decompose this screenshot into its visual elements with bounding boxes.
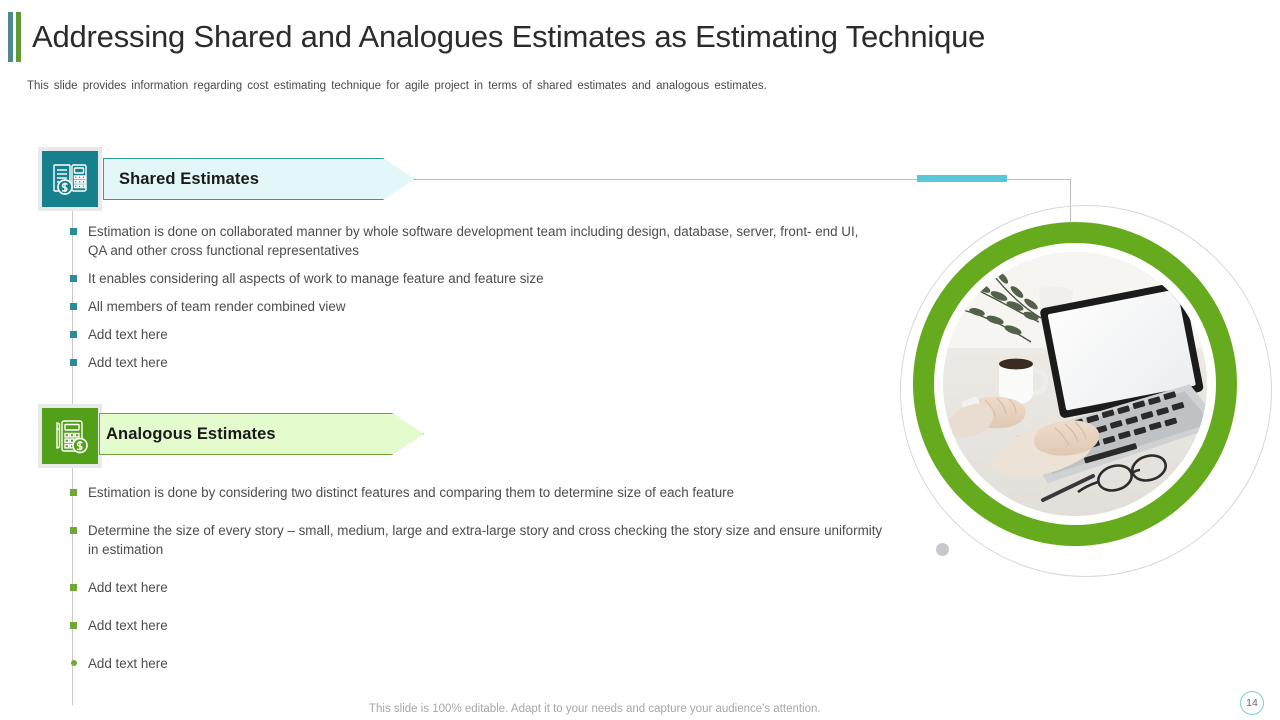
person-typing-on-laptop-photo <box>943 252 1207 516</box>
slide-canvas: Addressing Shared and Analogues Estimate… <box>0 0 1280 720</box>
calculator-pen-dollar-icon <box>50 416 90 456</box>
title-accent-bar <box>8 12 21 62</box>
page-title: Addressing Shared and Analogues Estimate… <box>32 14 985 60</box>
list-item-text: It enables considering all aspects of wo… <box>88 269 866 288</box>
list-item-text: Estimation is done by considering two di… <box>88 483 896 502</box>
accent-stripe-green <box>16 12 21 62</box>
decorative-arc-dot <box>936 543 949 556</box>
bullet-marker-icon <box>70 359 77 366</box>
analogous-estimates-label: Analogous Estimates <box>106 425 276 444</box>
photo-green-ring <box>913 222 1237 546</box>
page-subtitle: This slide provides information regardin… <box>27 80 767 92</box>
list-item-text: Add text here <box>88 654 896 673</box>
list-item-text: Estimation is done on collaborated manne… <box>88 222 866 260</box>
list-item: All members of team render combined view <box>66 297 866 316</box>
bullet-marker-icon <box>70 527 77 534</box>
list-item-text: All members of team render combined view <box>88 297 866 316</box>
shared-estimates-banner[interactable]: Shared Estimates <box>103 158 415 200</box>
bullet-marker-icon <box>70 275 77 282</box>
list-item-text: Add text here <box>88 578 896 597</box>
list-item-text: Add text here <box>88 616 896 635</box>
bullet-marker-icon <box>70 489 77 496</box>
list-item: It enables considering all aspects of wo… <box>66 269 866 288</box>
list-item: Determine the size of every story – smal… <box>66 521 896 559</box>
list-item: Add text here <box>66 654 896 673</box>
analogous-estimates-banner[interactable]: Analogous Estimates <box>99 413 424 455</box>
shared-estimates-label: Shared Estimates <box>119 170 259 189</box>
footer-note: This slide is 100% editable. Adapt it to… <box>369 703 821 715</box>
bullet-marker-icon <box>71 660 77 666</box>
bullet-marker-icon <box>70 331 77 338</box>
list-item: Estimation is done by considering two di… <box>66 483 896 502</box>
list-item: Add text here <box>66 325 866 344</box>
bullet-marker-icon <box>70 303 77 310</box>
shared-estimates-icon-box[interactable] <box>38 147 102 211</box>
list-item-text: Determine the size of every story – smal… <box>88 521 896 559</box>
bullet-marker-icon <box>70 584 77 591</box>
bullet-marker-icon <box>70 228 77 235</box>
analogous-estimates-bullet-list: Estimation is done by considering two di… <box>66 483 896 692</box>
list-item: Add text here <box>66 578 896 597</box>
teal-highlight-bar <box>917 175 1007 182</box>
shared-estimates-bullet-list: Estimation is done on collaborated manne… <box>66 222 866 381</box>
list-item-text: Add text here <box>88 353 866 372</box>
list-item-text: Add text here <box>88 325 866 344</box>
list-item: Add text here <box>66 616 896 635</box>
list-item: Add text here <box>66 353 866 372</box>
analogous-estimates-icon-box[interactable] <box>38 404 102 468</box>
list-item: Estimation is done on collaborated manne… <box>66 222 866 260</box>
photo-white-gap <box>934 243 1216 525</box>
invoice-calculator-dollar-icon <box>50 159 90 199</box>
bullet-marker-icon <box>70 622 77 629</box>
page-number-badge: 14 <box>1240 691 1264 715</box>
